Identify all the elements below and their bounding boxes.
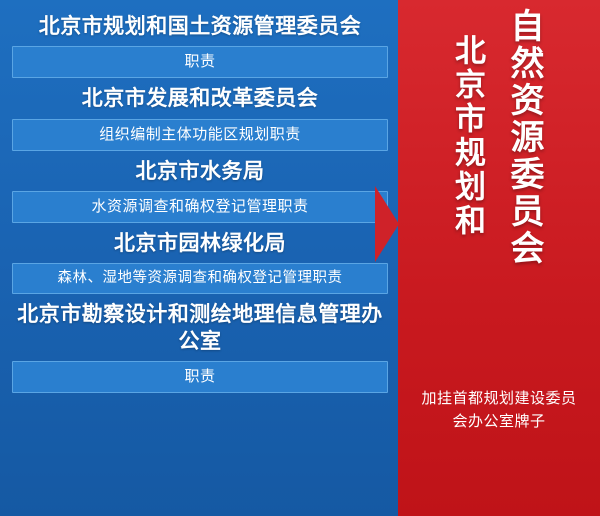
left-blue-panel: 北京市规划和国土资源管理委员会 职责 北京市发展和改革委员会 组织编制主体功能区… [0,0,398,516]
department-name: 北京市园林绿化局 [12,227,388,263]
right-red-panel: 自然资源委员会 北京市规划和 加挂首都规划建设委员会办公室牌子 [398,0,600,516]
infographic-root: 北京市规划和国土资源管理委员会 职责 北京市发展和改革委员会 组织编制主体功能区… [0,0,600,516]
department-group: 北京市园林绿化局 森林、湿地等资源调查和确权登记管理职责 [12,227,388,295]
department-duty: 水资源调查和确权登记管理职责 [12,191,388,223]
department-duty: 职责 [12,361,388,393]
department-group: 北京市水务局 水资源调查和确权登记管理职责 [12,155,388,223]
department-name: 北京市规划和国土资源管理委员会 [12,10,388,46]
department-name: 北京市发展和改革委员会 [12,82,388,118]
department-group: 北京市勘察设计和测绘地理信息管理办公室 职责 [12,298,388,393]
department-group: 北京市发展和改革委员会 组织编制主体功能区规划职责 [12,82,388,150]
department-name: 北京市勘察设计和测绘地理信息管理办公室 [12,298,388,361]
department-duty: 职责 [12,46,388,78]
department-name: 北京市水务局 [12,155,388,191]
vertical-title: 自然资源委员会 北京市规划和 [445,0,553,382]
vertical-title-line-left: 北京市规划和 [445,8,490,238]
additional-plaque-note: 加挂首都规划建设委员会办公室牌子 [398,388,600,433]
merge-arrow-icon [375,186,399,262]
vertical-title-line-right: 自然资源委员会 [500,8,549,267]
department-duty: 森林、湿地等资源调查和确权登记管理职责 [12,263,388,294]
department-group: 北京市规划和国土资源管理委员会 职责 [12,10,388,78]
department-duty: 组织编制主体功能区规划职责 [12,119,388,151]
